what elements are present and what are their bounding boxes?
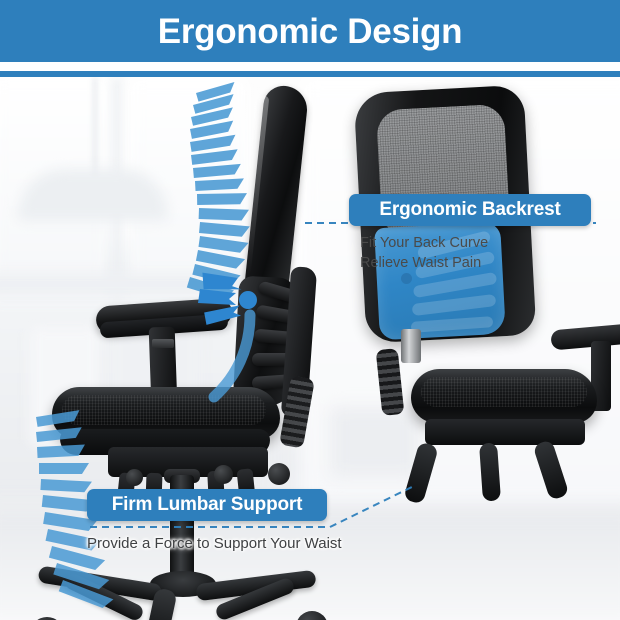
callout-label-firm-lumbar-support[interactable]: Firm Lumbar Support (87, 489, 327, 521)
page-title: Ergonomic Design (158, 14, 462, 49)
base-leg (403, 441, 439, 504)
tilt-knob (268, 463, 290, 485)
infographic-root: Ergonomic Design (0, 0, 620, 620)
caster-wheel (296, 611, 328, 620)
armrest-adjust-button (152, 339, 174, 348)
base-leg (479, 442, 501, 501)
backrest-post (401, 329, 421, 363)
callout-label-ergonomic-backrest[interactable]: Ergonomic Backrest (349, 194, 591, 226)
seat-mechanism (425, 419, 585, 445)
right-chair-rear-view (355, 77, 620, 620)
callout-line-fit-your-back-curve: Fit Your Back Curve (360, 233, 488, 253)
callout-line-relieve-waist-pain: Relieve Waist Pain (360, 253, 481, 273)
product-photo-scene: Ergonomic Backrest Fit Your Back Curve R… (0, 77, 620, 620)
right-lumbar-anchor-dot (401, 273, 412, 284)
adjust-knob (126, 469, 143, 486)
base-leg (533, 439, 570, 500)
header-bar: Ergonomic Design (0, 0, 620, 62)
tension-knob (214, 465, 233, 484)
callout-line-provide-a-force: Provide a Force to Support Your Waist (87, 534, 342, 554)
